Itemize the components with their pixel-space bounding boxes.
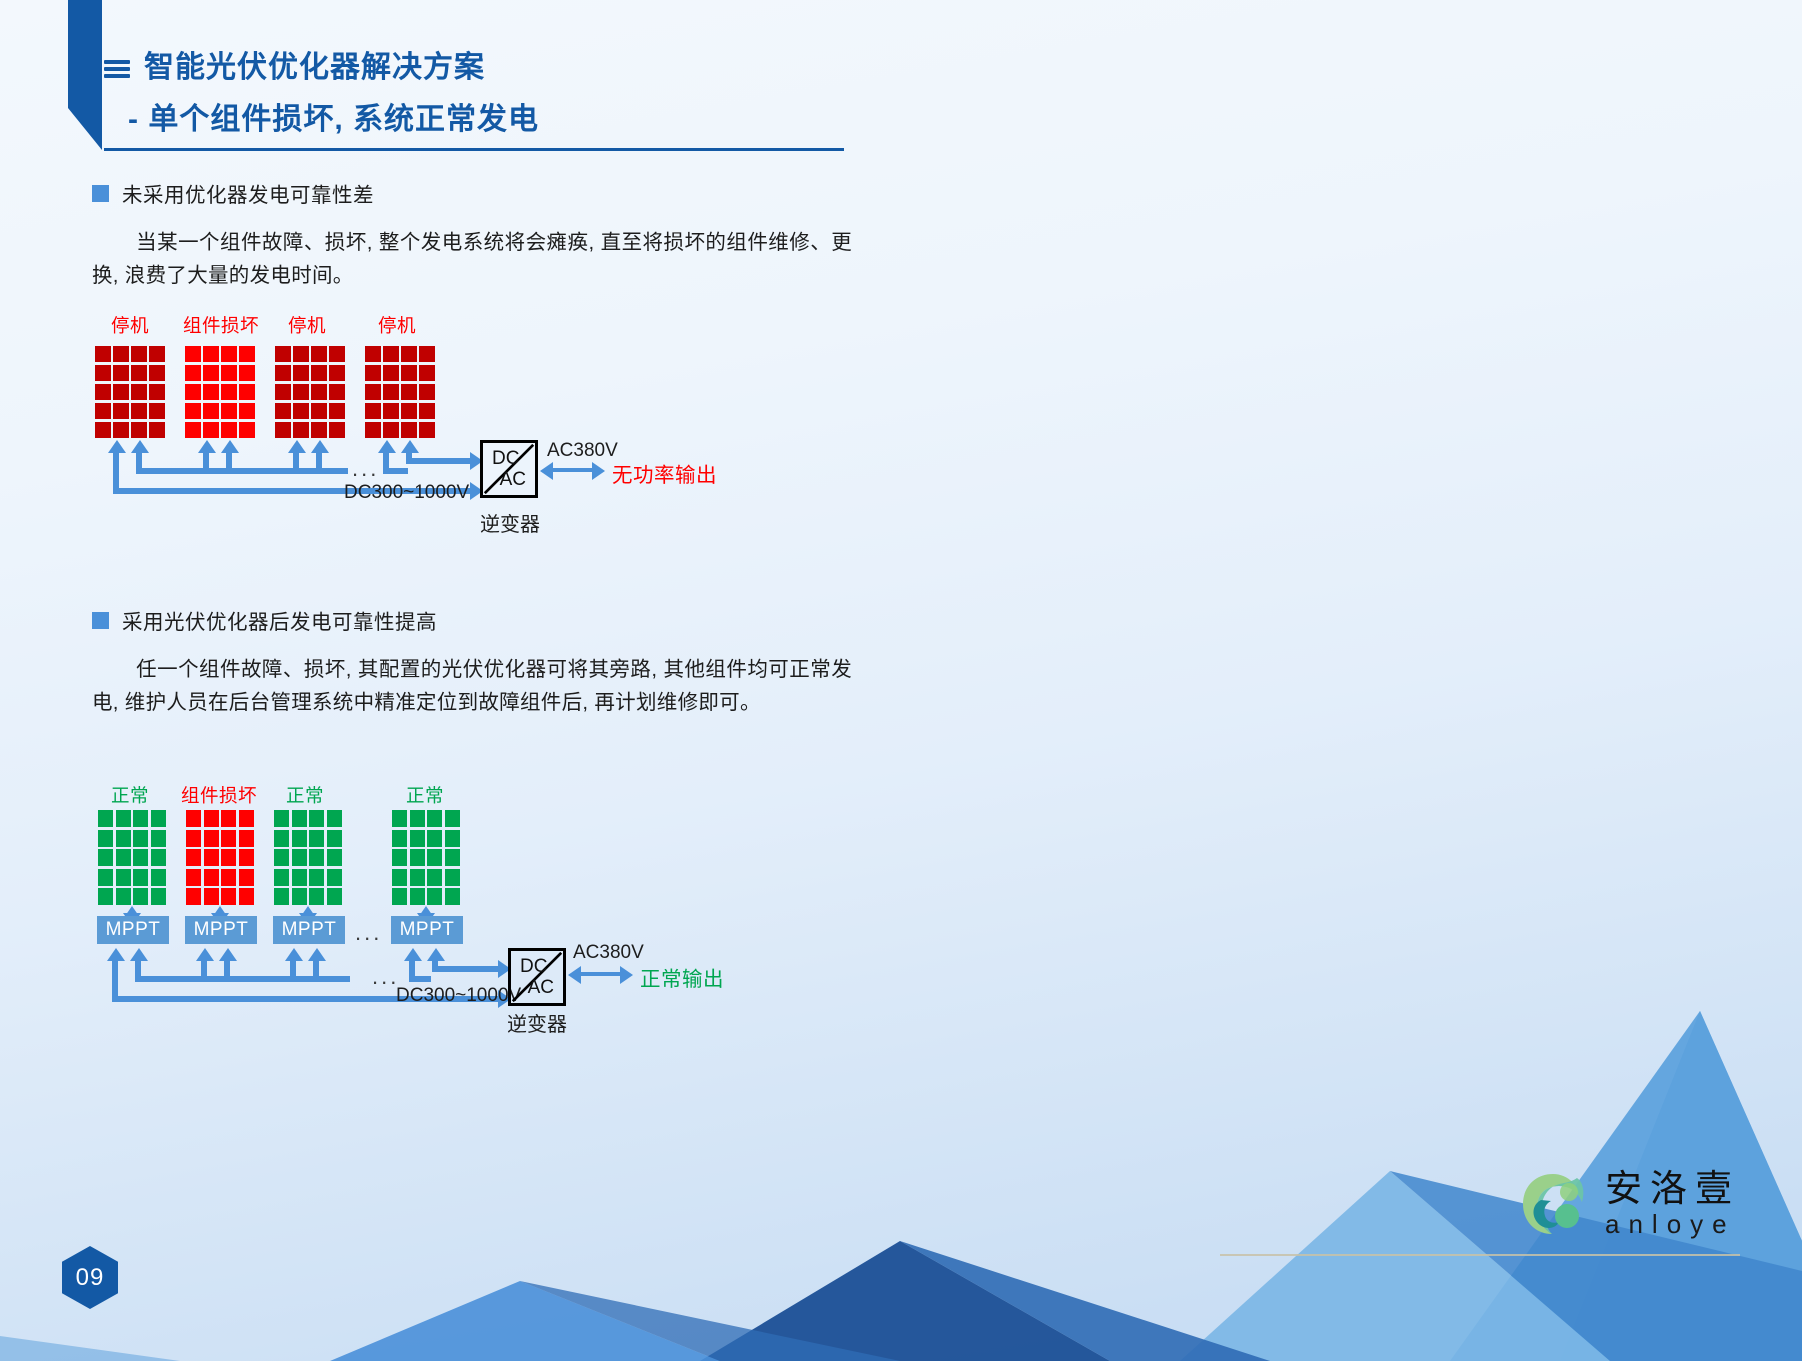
inverter-caption-2: 逆变器 [497, 1008, 577, 1037]
inverter-box-2: DC AC [508, 948, 566, 1006]
company-logo: 安洛壹 anloye [1519, 1170, 1740, 1239]
pv2-array-1 [98, 810, 166, 905]
inverter2-ac-label: AC [528, 977, 554, 999]
logo-chinese-name: 安洛壹 [1605, 1170, 1740, 1209]
logo-text-block: 安洛壹 anloye [1605, 1170, 1740, 1239]
ac-wire-2 [580, 972, 622, 976]
mppt-out-wire-3c [290, 976, 350, 982]
panel2-label-4: 正常 [385, 782, 465, 808]
bus2-wire-upper [432, 966, 500, 972]
mppt-box-2[interactable]: MPPT [185, 916, 257, 944]
ac-voltage-label-2: AC380V [573, 942, 644, 964]
inverter2-dc-label: DC [520, 956, 547, 978]
mppt-out-wire-2c [201, 976, 294, 982]
mppt-box-1[interactable]: MPPT [97, 916, 169, 944]
panel2-label-3: 正常 [265, 782, 345, 808]
mppt-ellipsis: ... [355, 922, 382, 944]
diagram-with-optimizer: 正常 组件损坏 正常 正常 [0, 0, 1802, 1361]
panel2-label-1: 正常 [90, 782, 170, 808]
mppt-box-3[interactable]: MPPT [273, 916, 345, 944]
pv2-array-3 [274, 810, 342, 905]
ac-arrow-right-2 [620, 966, 633, 984]
pv2-array-2 [186, 810, 254, 905]
output-label-2: 正常输出 [640, 962, 724, 992]
mppt-out-wire-4c [409, 976, 431, 982]
mppt-out-wire-1c [135, 976, 205, 982]
anloye-mark-icon [1519, 1170, 1591, 1238]
panel2-label-2: 组件损坏 [175, 782, 263, 808]
slide-page: 智能光伏优化器解决方案 - 单个组件损坏, 系统正常发电 未采用优化器发电可靠性… [0, 0, 1802, 1361]
pv2-array-4 [392, 810, 460, 905]
dc-voltage-label-2: DC300~1000V [396, 985, 521, 1007]
logo-english-name: anloye [1605, 1210, 1740, 1239]
mppt-box-4[interactable]: MPPT [391, 916, 463, 944]
logo-underline [1220, 1254, 1740, 1256]
